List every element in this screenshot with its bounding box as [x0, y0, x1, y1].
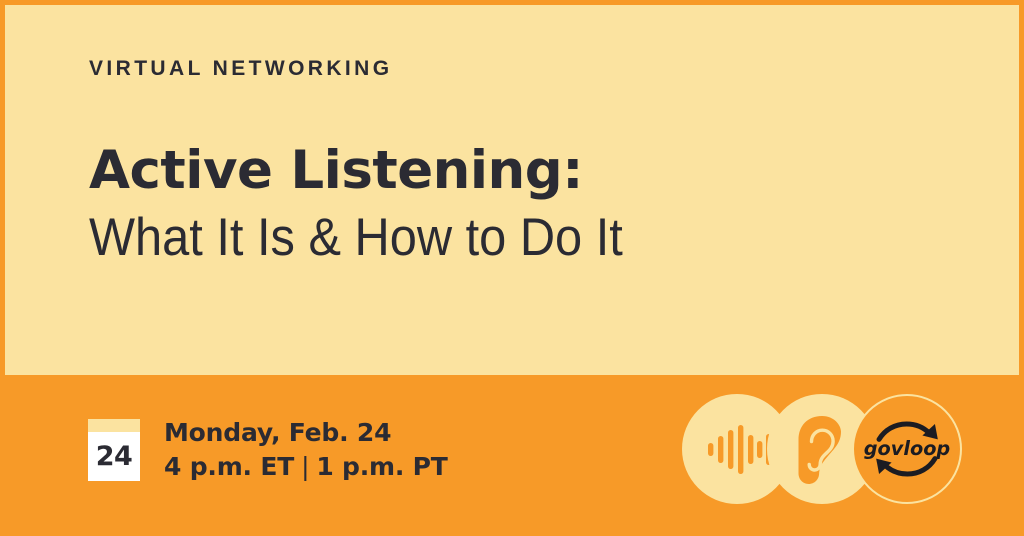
hero-panel: VIRTUAL NETWORKING Active Listening: Wha…	[5, 5, 1019, 375]
logo-cluster: govloop	[682, 394, 972, 516]
webinar-promo-banner: VIRTUAL NETWORKING Active Listening: Wha…	[0, 0, 1024, 536]
event-time-et: 4 p.m. ET	[164, 452, 294, 481]
calendar-day-number: 24	[88, 432, 140, 481]
page-subtitle: What It Is & How to Do It	[89, 203, 899, 273]
eyebrow-label: VIRTUAL NETWORKING	[89, 57, 392, 81]
title-block: Active Listening: What It Is & How to Do…	[89, 139, 969, 273]
event-details: 24 Monday, Feb. 24 4 p.m. ET|1 p.m. PT	[88, 416, 448, 484]
calendar-icon: 24	[88, 419, 140, 481]
page-title: Active Listening:	[89, 139, 969, 203]
event-date: Monday, Feb. 24	[164, 416, 448, 450]
event-time-pt: 1 p.m. PT	[316, 452, 447, 481]
calendar-header-strip	[88, 419, 140, 432]
govloop-badge[interactable]: govloop	[852, 394, 962, 504]
govloop-logo-icon: govloop	[854, 396, 960, 502]
govloop-wordmark: govloop	[864, 437, 951, 460]
event-date-time: Monday, Feb. 24 4 p.m. ET|1 p.m. PT	[164, 416, 448, 484]
time-separator: |	[294, 450, 316, 484]
footer-bar: 24 Monday, Feb. 24 4 p.m. ET|1 p.m. PT	[0, 375, 1024, 536]
event-time: 4 p.m. ET|1 p.m. PT	[164, 450, 448, 484]
